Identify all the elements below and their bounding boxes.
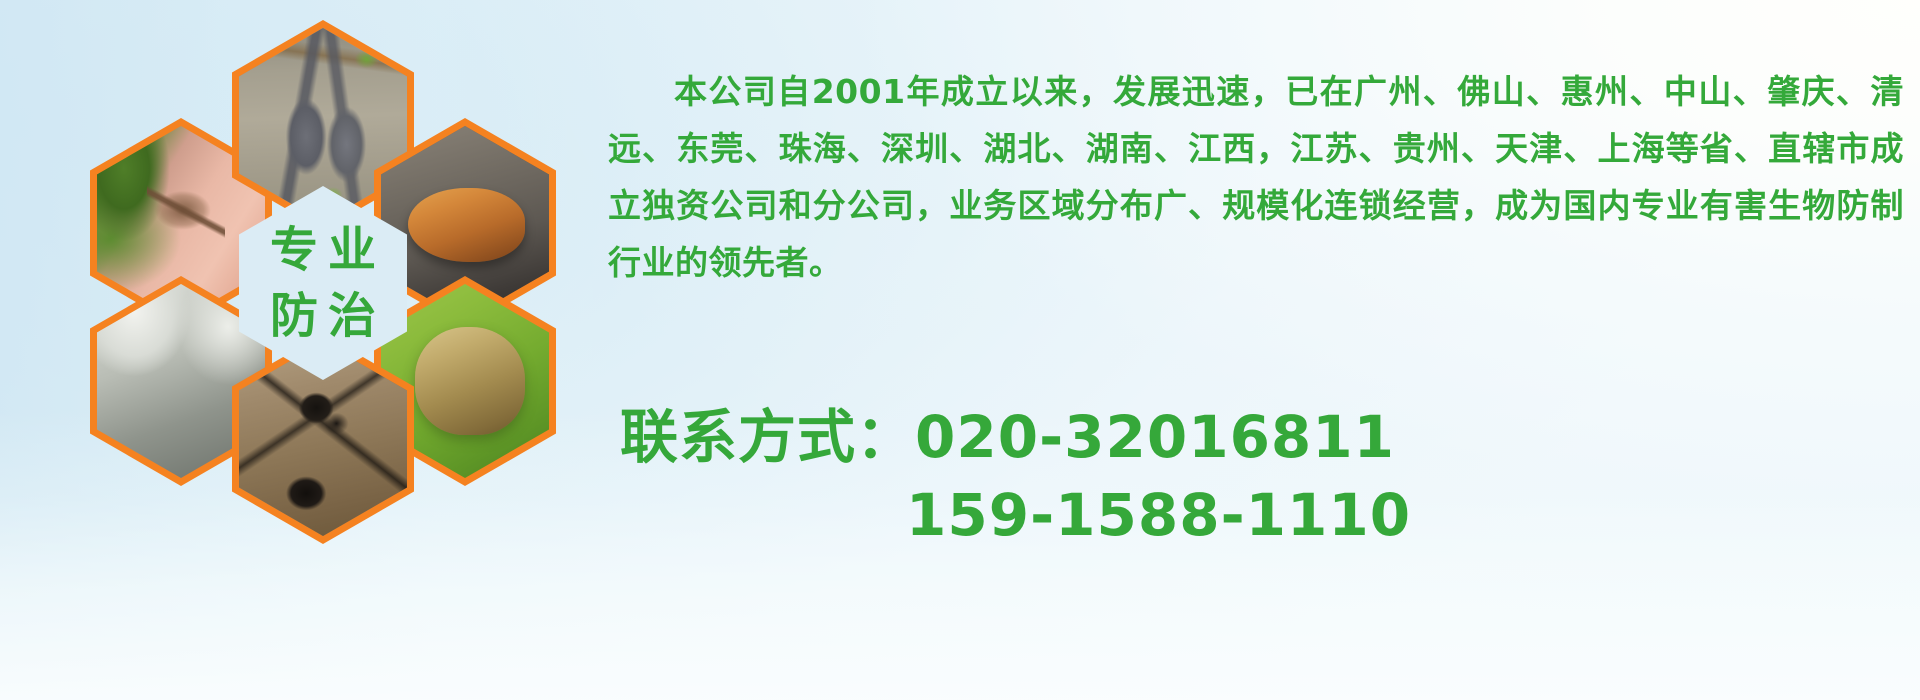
pest-control-banner: 专业 防治 本公司自2001年成立以来，发展迅速，已在广州、佛山、惠州、中山、肇…: [0, 0, 1920, 700]
contact-line-primary[interactable]: 联系方式：020-32016811: [620, 398, 1920, 476]
company-intro-paragraph: 本公司自2001年成立以来，发展迅速，已在广州、佛山、惠州、中山、肇庆、清远、东…: [608, 63, 1904, 291]
slogan-line-1: 专业: [260, 217, 386, 283]
contact-block: 联系方式：020-32016811 159-1588-1110: [620, 398, 1920, 554]
company-intro-block: 本公司自2001年成立以来，发展迅速，已在广州、佛山、惠州、中山、肇庆、清远、东…: [608, 30, 1904, 324]
slogan-panel: 专业 防治: [239, 186, 407, 380]
honeycomb-logo-cluster: 专业 防治: [86, 0, 586, 590]
slogan-line-2: 防治: [260, 283, 386, 349]
contact-line-secondary[interactable]: 159-1588-1110: [620, 476, 1920, 554]
